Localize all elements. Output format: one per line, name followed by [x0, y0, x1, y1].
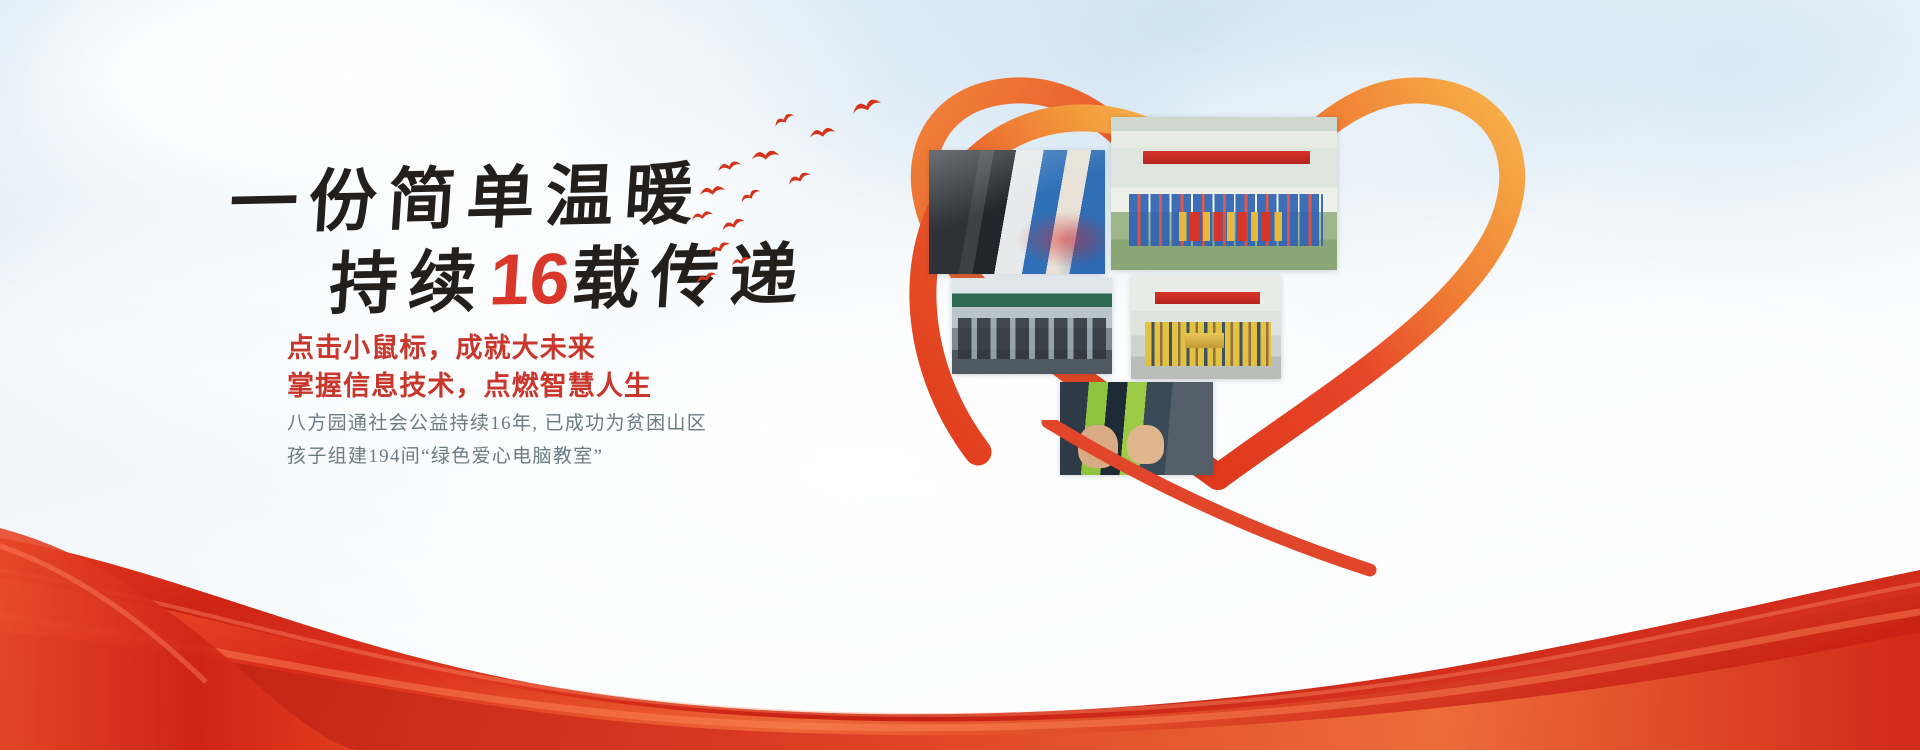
headline-years-number: 16	[485, 239, 575, 321]
photo-monitors	[958, 318, 1105, 358]
photo-school-donation-group	[1111, 117, 1337, 270]
bird-icon	[715, 156, 744, 176]
promo-banner: 一份简单温暖 持续16载传递 点击小鼠标，成就大未来 掌握信息技术，点燃智慧人生…	[0, 0, 1920, 750]
photo-plaque	[1185, 333, 1224, 348]
bird-icon	[729, 252, 753, 270]
photo-computer-lab-students-row	[929, 150, 1105, 274]
headline-line-2-prefix: 持续	[327, 244, 490, 323]
bird-icon	[689, 207, 715, 225]
heart-tail-stroke-icon	[1040, 420, 1460, 620]
red-silk-ribbon-wave	[0, 420, 1920, 750]
bird-icon	[749, 145, 781, 165]
photo-award-flags	[1179, 212, 1283, 241]
headline-line-1: 一份简单温暖	[227, 160, 706, 238]
bird-icon	[718, 213, 748, 236]
bird-icon	[692, 267, 719, 288]
photo-image	[1131, 276, 1281, 379]
photo-red-banner	[1155, 292, 1260, 303]
photo-classroom-computers	[952, 278, 1112, 374]
bird-icon	[697, 181, 727, 200]
photo-image	[952, 278, 1112, 374]
photo-award-ceremony-group	[1131, 276, 1281, 379]
subtitle-group: 点击小鼠标，成就大未来 掌握信息技术，点燃智慧人生	[287, 329, 652, 406]
subtitle-line-2: 掌握信息技术，点燃智慧人生	[287, 367, 652, 405]
subtitle-line-1: 点击小鼠标，成就大未来	[287, 329, 652, 367]
bird-icon	[784, 167, 814, 190]
bird-icon	[736, 184, 764, 208]
bird-icon	[770, 108, 798, 131]
photo-image	[1111, 117, 1337, 270]
photo-highlight	[929, 150, 1105, 274]
photo-red-banner	[1143, 151, 1310, 165]
